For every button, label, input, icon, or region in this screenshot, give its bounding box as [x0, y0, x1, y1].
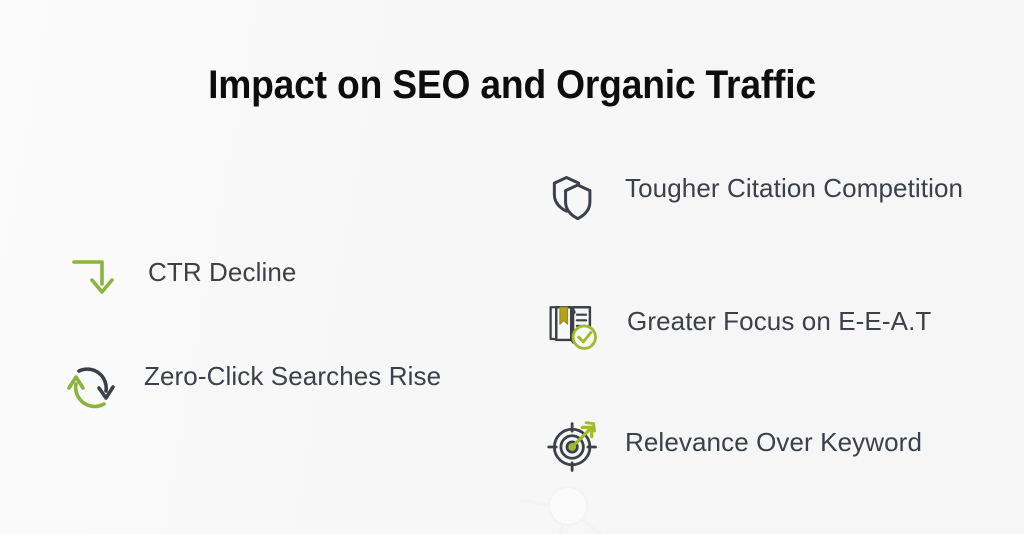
page-title: Impact on SEO and Organic Traffic	[36, 63, 988, 108]
double-shield-icon	[545, 168, 603, 226]
search-icon	[520, 478, 640, 534]
list-item-label: Relevance Over Keyword	[625, 416, 922, 458]
book-check-icon	[545, 296, 603, 354]
list-item-zero-click-searches[interactable]: Zero-Click Searches Rise	[62, 358, 441, 416]
target-arrow-icon	[545, 416, 603, 474]
list-item-label: Zero-Click Searches Rise	[144, 358, 441, 392]
list-item-label: CTR Decline	[148, 246, 296, 288]
list-item-relevance-over-keyword[interactable]: Relevance Over Keyword	[545, 416, 922, 474]
list-item-label: Tougher Citation Competition	[625, 168, 963, 204]
slide-canvas: Impact on SEO and Organic Traffic CTR De…	[0, 0, 1024, 534]
arrow-turn-down-icon	[62, 246, 120, 304]
list-item-label: Greater Focus on E-E-A.T	[627, 296, 931, 337]
list-item-tougher-citation-competition[interactable]: Tougher Citation Competition	[545, 168, 963, 226]
refresh-cycle-icon	[62, 358, 120, 416]
list-item-ctr-decline[interactable]: CTR Decline	[62, 246, 296, 304]
list-item-greater-focus-eeat[interactable]: Greater Focus on E-E-A.T	[545, 296, 931, 354]
